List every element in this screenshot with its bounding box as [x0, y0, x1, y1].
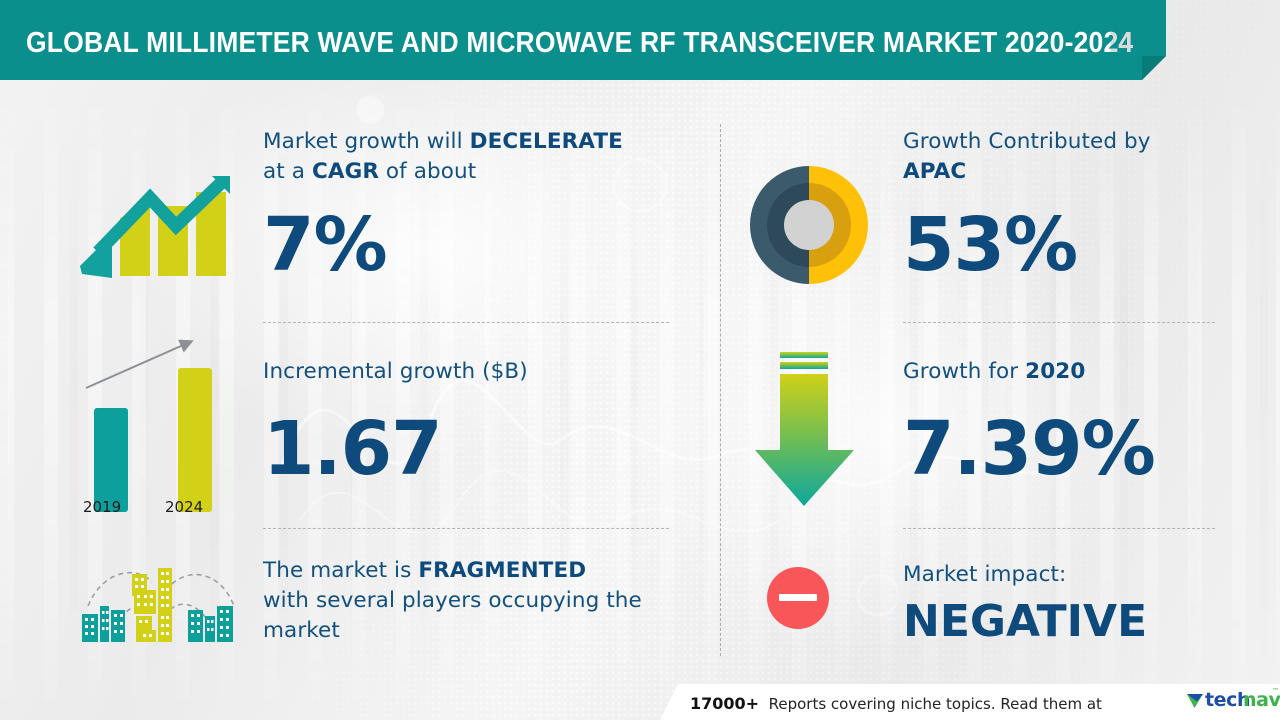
growth-2020-prefix: Growth for — [903, 359, 1025, 384]
donut-chart-icon — [748, 164, 870, 286]
page-title: GLOBAL MILLIMETER WAVE AND MICROWAVE RF … — [26, 27, 1179, 60]
footer-report-count: 17000+ — [690, 694, 759, 713]
cagr-value: 7% — [263, 208, 387, 282]
apac-value: 53% — [903, 208, 1077, 282]
cagr-line2-prefix: at a — [263, 159, 312, 184]
cagr-line1-prefix: Market growth will — [263, 129, 470, 154]
divider-left-2 — [263, 528, 669, 529]
negative-minus-circle-icon — [766, 566, 830, 630]
footer-text: 17000+ Reports covering niche topics. Re… — [690, 694, 1102, 713]
divider-left-1 — [263, 322, 669, 323]
cagr-description: Market growth will DECELERATE at a CAGR … — [263, 127, 683, 187]
growth-2020-bold: 2020 — [1025, 359, 1085, 384]
bar-label-2024: 2024 — [165, 498, 203, 516]
apac-description: Growth Contributed by APAC — [903, 127, 1233, 187]
market-impact-value: NEGATIVE — [903, 598, 1147, 646]
growth-2020-value: 7.39% — [903, 412, 1155, 486]
fragmentation-line1-bold: FRAGMENTED — [418, 558, 586, 583]
cagr-line1-bold: DECELERATE — [470, 129, 623, 154]
cagr-line2-suffix: of about — [379, 159, 476, 184]
infographic-canvas: GLOBAL MILLIMETER WAVE AND MICROWAVE RF … — [0, 0, 1280, 720]
divider-right-1 — [903, 322, 1215, 323]
fragmentation-line3: market — [263, 616, 693, 646]
down-arrow-icon — [755, 344, 865, 512]
growth-bars-icon — [72, 330, 252, 520]
divider-right-2 — [903, 528, 1215, 529]
bar-label-2019: 2019 — [83, 498, 121, 516]
market-impact-label: Market impact: — [903, 560, 1066, 590]
growth-2020-description: Growth for 2020 — [903, 357, 1085, 387]
declining-bar-chart-icon — [72, 168, 252, 288]
incremental-growth-label: Incremental growth ($B) — [263, 357, 528, 387]
apac-line1: Growth Contributed by — [903, 127, 1233, 157]
footer-caption: Reports covering niche topics. Read them… — [769, 695, 1102, 713]
fragmentation-line1-prefix: The market is — [263, 558, 418, 583]
fragmentation-line2: with several players occupying the — [263, 586, 693, 616]
market-players-buildings-icon — [76, 556, 248, 652]
cagr-line2-bold: CAGR — [312, 159, 379, 184]
incremental-growth-value: 1.67 — [263, 412, 442, 486]
vertical-divider — [720, 124, 721, 656]
logo-trademark: ™ — [1272, 687, 1279, 695]
fragmentation-description: The market is FRAGMENTED with several pl… — [263, 556, 693, 646]
apac-line1-bold: APAC — [903, 159, 966, 184]
